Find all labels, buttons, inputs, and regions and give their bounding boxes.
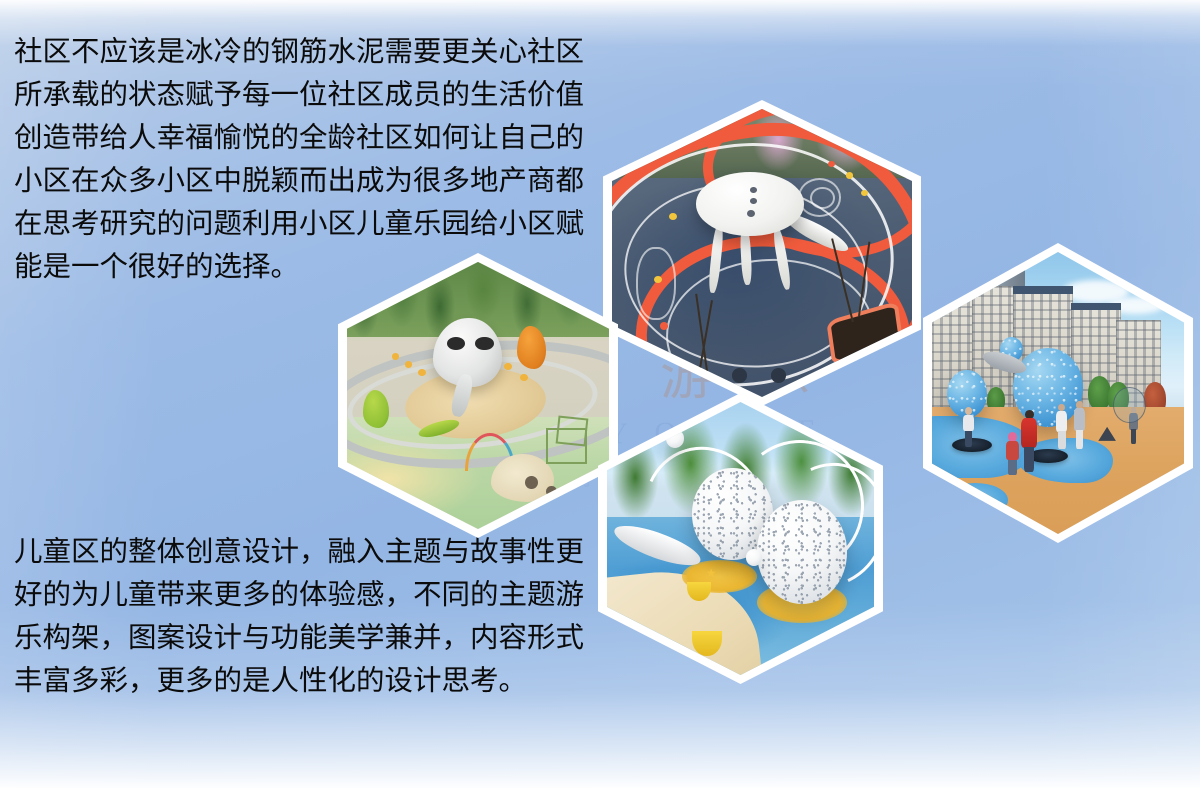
small-sphere-knob-2 (746, 549, 762, 565)
climbing-frame-right-2 (555, 415, 588, 446)
hexagon-photo-sphere-playground-frame: ★ (607, 402, 874, 675)
canopy-port-3 (747, 210, 755, 217)
poster-canvas: 社区不应该是冰冷的钢筋水泥需要更关心社区所承载的状态赋予每一位社区成员的生活价值… (0, 0, 1200, 788)
shade-hole-2 (771, 368, 786, 382)
yellow-dot-1 (669, 213, 677, 220)
dandelion-sphere-2 (757, 500, 848, 604)
stepping-peg-5 (520, 374, 528, 381)
intro-paragraph: 社区不应该是冰冷的钢筋水泥需要更关心社区所承载的状态赋予每一位社区成员的生活价值… (14, 31, 594, 289)
shade-hole-1 (732, 368, 747, 382)
hexagon-photo-aerial-playground (603, 100, 921, 406)
hexagon-photo-themed-playground-frame (347, 262, 609, 529)
design-paragraph: 儿童区的整体创意设计，融入主题与故事性更好的为儿童带来更多的体验感，不同的主题游… (14, 531, 594, 703)
child-head (965, 407, 972, 415)
stepping-peg-3 (418, 369, 426, 376)
hexagon-photo-community-playground (923, 243, 1193, 543)
person-standing-1 (1055, 404, 1068, 449)
red-dot-1 (645, 299, 653, 306)
toddler-legs (1008, 460, 1016, 475)
yellow-dot-3 (846, 172, 853, 178)
themed-playground-artwork (347, 262, 609, 529)
tunnel-hole-2 (546, 486, 556, 497)
person-toddler-pink-hat (1005, 432, 1020, 474)
roof-center (1013, 286, 1073, 294)
green-animal-sculpture (363, 390, 389, 427)
yellow-dot-2 (654, 276, 662, 283)
hexagon-photo-community-playground-frame (932, 252, 1184, 534)
roof-right (1071, 303, 1121, 310)
child-torso (963, 415, 974, 432)
elephant-eye-right (475, 337, 493, 350)
tunnel-hole-1 (525, 476, 538, 489)
person-2-legs (1076, 430, 1084, 449)
person-adult-red-coat (1020, 410, 1038, 472)
child-legs (965, 431, 973, 447)
community-playground-artwork (932, 252, 1184, 534)
person-1-torso (1056, 411, 1067, 432)
canopy-port-1 (750, 187, 757, 193)
stepping-peg-2 (405, 361, 413, 368)
star-graphic: ★ (706, 566, 717, 580)
oval-graphic-left (636, 247, 676, 320)
white-mushroom-canopy (696, 172, 804, 235)
red-dot-2 (660, 322, 668, 329)
rope-net-dome (1113, 387, 1145, 423)
toddler-torso (1006, 441, 1019, 460)
person-child-jumping (962, 407, 975, 446)
sand-mound-tunnel (491, 454, 554, 502)
sphere-playground-artwork: ★ (607, 402, 874, 675)
adult-red-coat (1021, 418, 1038, 448)
person-2-torso (1074, 408, 1085, 431)
yellow-dot-4 (861, 190, 868, 196)
aerial-playground-artwork (612, 109, 912, 397)
hexagon-photo-sphere-playground: ★ (598, 393, 883, 684)
blue-surface-zone-3 (942, 483, 1008, 517)
person-1-legs (1058, 431, 1066, 449)
elephant-eye-left (447, 337, 465, 350)
adult-legs (1024, 447, 1035, 472)
hexagon-photo-aerial-playground-frame (612, 109, 912, 397)
sphere-speckle-texture-2 (757, 500, 848, 604)
person-3-legs (1131, 429, 1137, 443)
canopy-port-2 (750, 198, 757, 204)
hexagon-photo-themed-playground (338, 253, 618, 538)
stepping-peg-1 (392, 353, 400, 360)
person-standing-2 (1073, 401, 1086, 449)
